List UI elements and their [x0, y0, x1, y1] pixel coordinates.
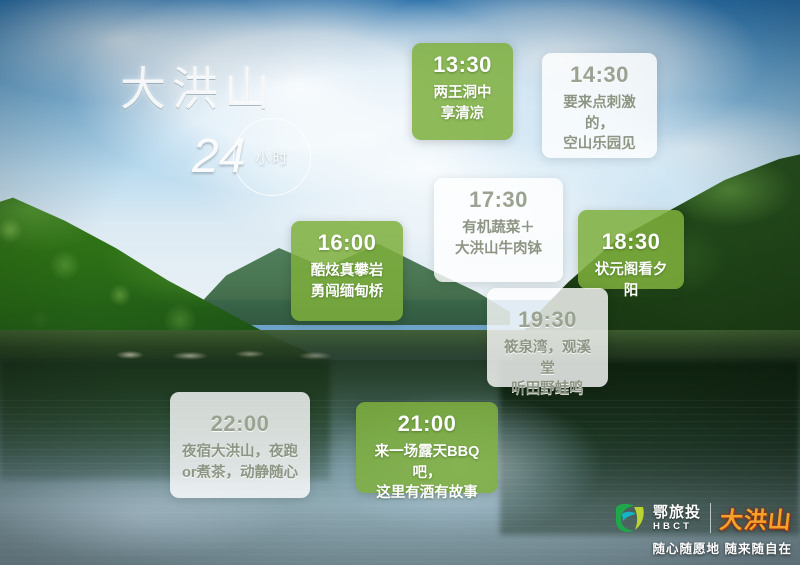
- schedule-card-2200[interactable]: 22:00 夜宿大洪山，夜跑 or煮茶，动静随心: [170, 392, 310, 498]
- hbct-name-en: HBCT: [653, 522, 701, 532]
- card-time: 19:30: [499, 308, 596, 331]
- schedule-card-1930[interactable]: 19:30 筱泉湾，观溪堂 听田野蛙鸣: [487, 288, 608, 387]
- dahongshan-logo: 大洪山: [718, 501, 794, 535]
- logo-divider: [710, 503, 711, 533]
- footer-tagline: 随心随愿地 随来随自在: [653, 538, 792, 557]
- card-line: 勇闯缅甸桥: [303, 282, 391, 303]
- headline-title: 大洪山: [112, 66, 412, 112]
- card-line: 两王洞中: [424, 83, 501, 104]
- logo-row: 鄂旅投 HBCT 大洪山: [613, 501, 792, 535]
- card-line: 酷炫真攀岩: [303, 261, 391, 282]
- schedule-card-1330[interactable]: 13:30 两王洞中 享清凉: [412, 43, 513, 140]
- card-line: 听田野蛙鸣: [499, 379, 596, 400]
- card-line: 空山乐园见: [554, 134, 645, 155]
- card-line: 来一场露天BBQ吧，: [368, 442, 486, 483]
- card-description: 夜宿大洪山，夜跑 or煮茶，动静随心: [182, 442, 298, 483]
- poster-canvas: 大洪山 24 小时 13:30 两王洞中 享清凉 14:30 要来点刺激的， 空…: [0, 0, 800, 565]
- card-line: 大洪山牛肉钵: [446, 239, 551, 260]
- card-line: 有机蔬菜＋: [446, 218, 551, 239]
- card-line: 筱泉湾，观溪堂: [499, 338, 596, 379]
- card-description: 来一场露天BBQ吧， 这里有酒有故事: [368, 442, 486, 504]
- card-description: 要来点刺激的， 空山乐园见: [554, 93, 645, 155]
- headline-subrow: 24 小时: [112, 118, 412, 196]
- schedule-card-1430[interactable]: 14:30 要来点刺激的， 空山乐园见: [542, 53, 657, 158]
- schedule-card-1730[interactable]: 17:30 有机蔬菜＋ 大洪山牛肉钵: [434, 178, 563, 282]
- schedule-card-2100[interactable]: 21:00 来一场露天BBQ吧， 这里有酒有故事: [356, 402, 498, 493]
- headline-unit: 小时: [255, 147, 289, 168]
- card-time: 17:30: [446, 188, 551, 211]
- card-description: 两王洞中 享清凉: [424, 83, 501, 124]
- hbct-swirl-icon: [613, 501, 647, 535]
- card-line: 享清凉: [424, 104, 501, 125]
- card-time: 22:00: [182, 412, 298, 435]
- card-time: 14:30: [554, 63, 645, 86]
- card-line: or煮茶，动静随心: [182, 463, 298, 484]
- card-time: 16:00: [303, 231, 391, 254]
- card-description: 筱泉湾，观溪堂 听田野蛙鸣: [499, 338, 596, 400]
- footer-branding: 鄂旅投 HBCT 大洪山 随心随愿地 随来随自在: [613, 501, 792, 557]
- card-line: 这里有酒有故事: [368, 483, 486, 504]
- schedule-card-1600[interactable]: 16:00 酷炫真攀岩 勇闯缅甸桥: [291, 221, 403, 321]
- card-line: 要来点刺激的，: [554, 93, 645, 134]
- card-line: 夜宿大洪山，夜跑: [182, 442, 298, 463]
- card-time: 21:00: [368, 412, 486, 435]
- schedule-card-1830[interactable]: 18:30 状元阁看夕阳: [578, 210, 684, 289]
- poster-headline: 大洪山 24 小时: [112, 66, 412, 186]
- card-description: 有机蔬菜＋ 大洪山牛肉钵: [446, 218, 551, 259]
- card-time: 13:30: [424, 53, 501, 76]
- hbct-wordmark: 鄂旅投 HBCT: [653, 505, 701, 532]
- hbct-name-cn: 鄂旅投: [653, 505, 701, 520]
- card-description: 酷炫真攀岩 勇闯缅甸桥: [303, 261, 391, 302]
- card-time: 18:30: [590, 230, 672, 253]
- hour-circle: 小时: [233, 118, 311, 196]
- hbct-logo: 鄂旅投 HBCT: [613, 501, 701, 535]
